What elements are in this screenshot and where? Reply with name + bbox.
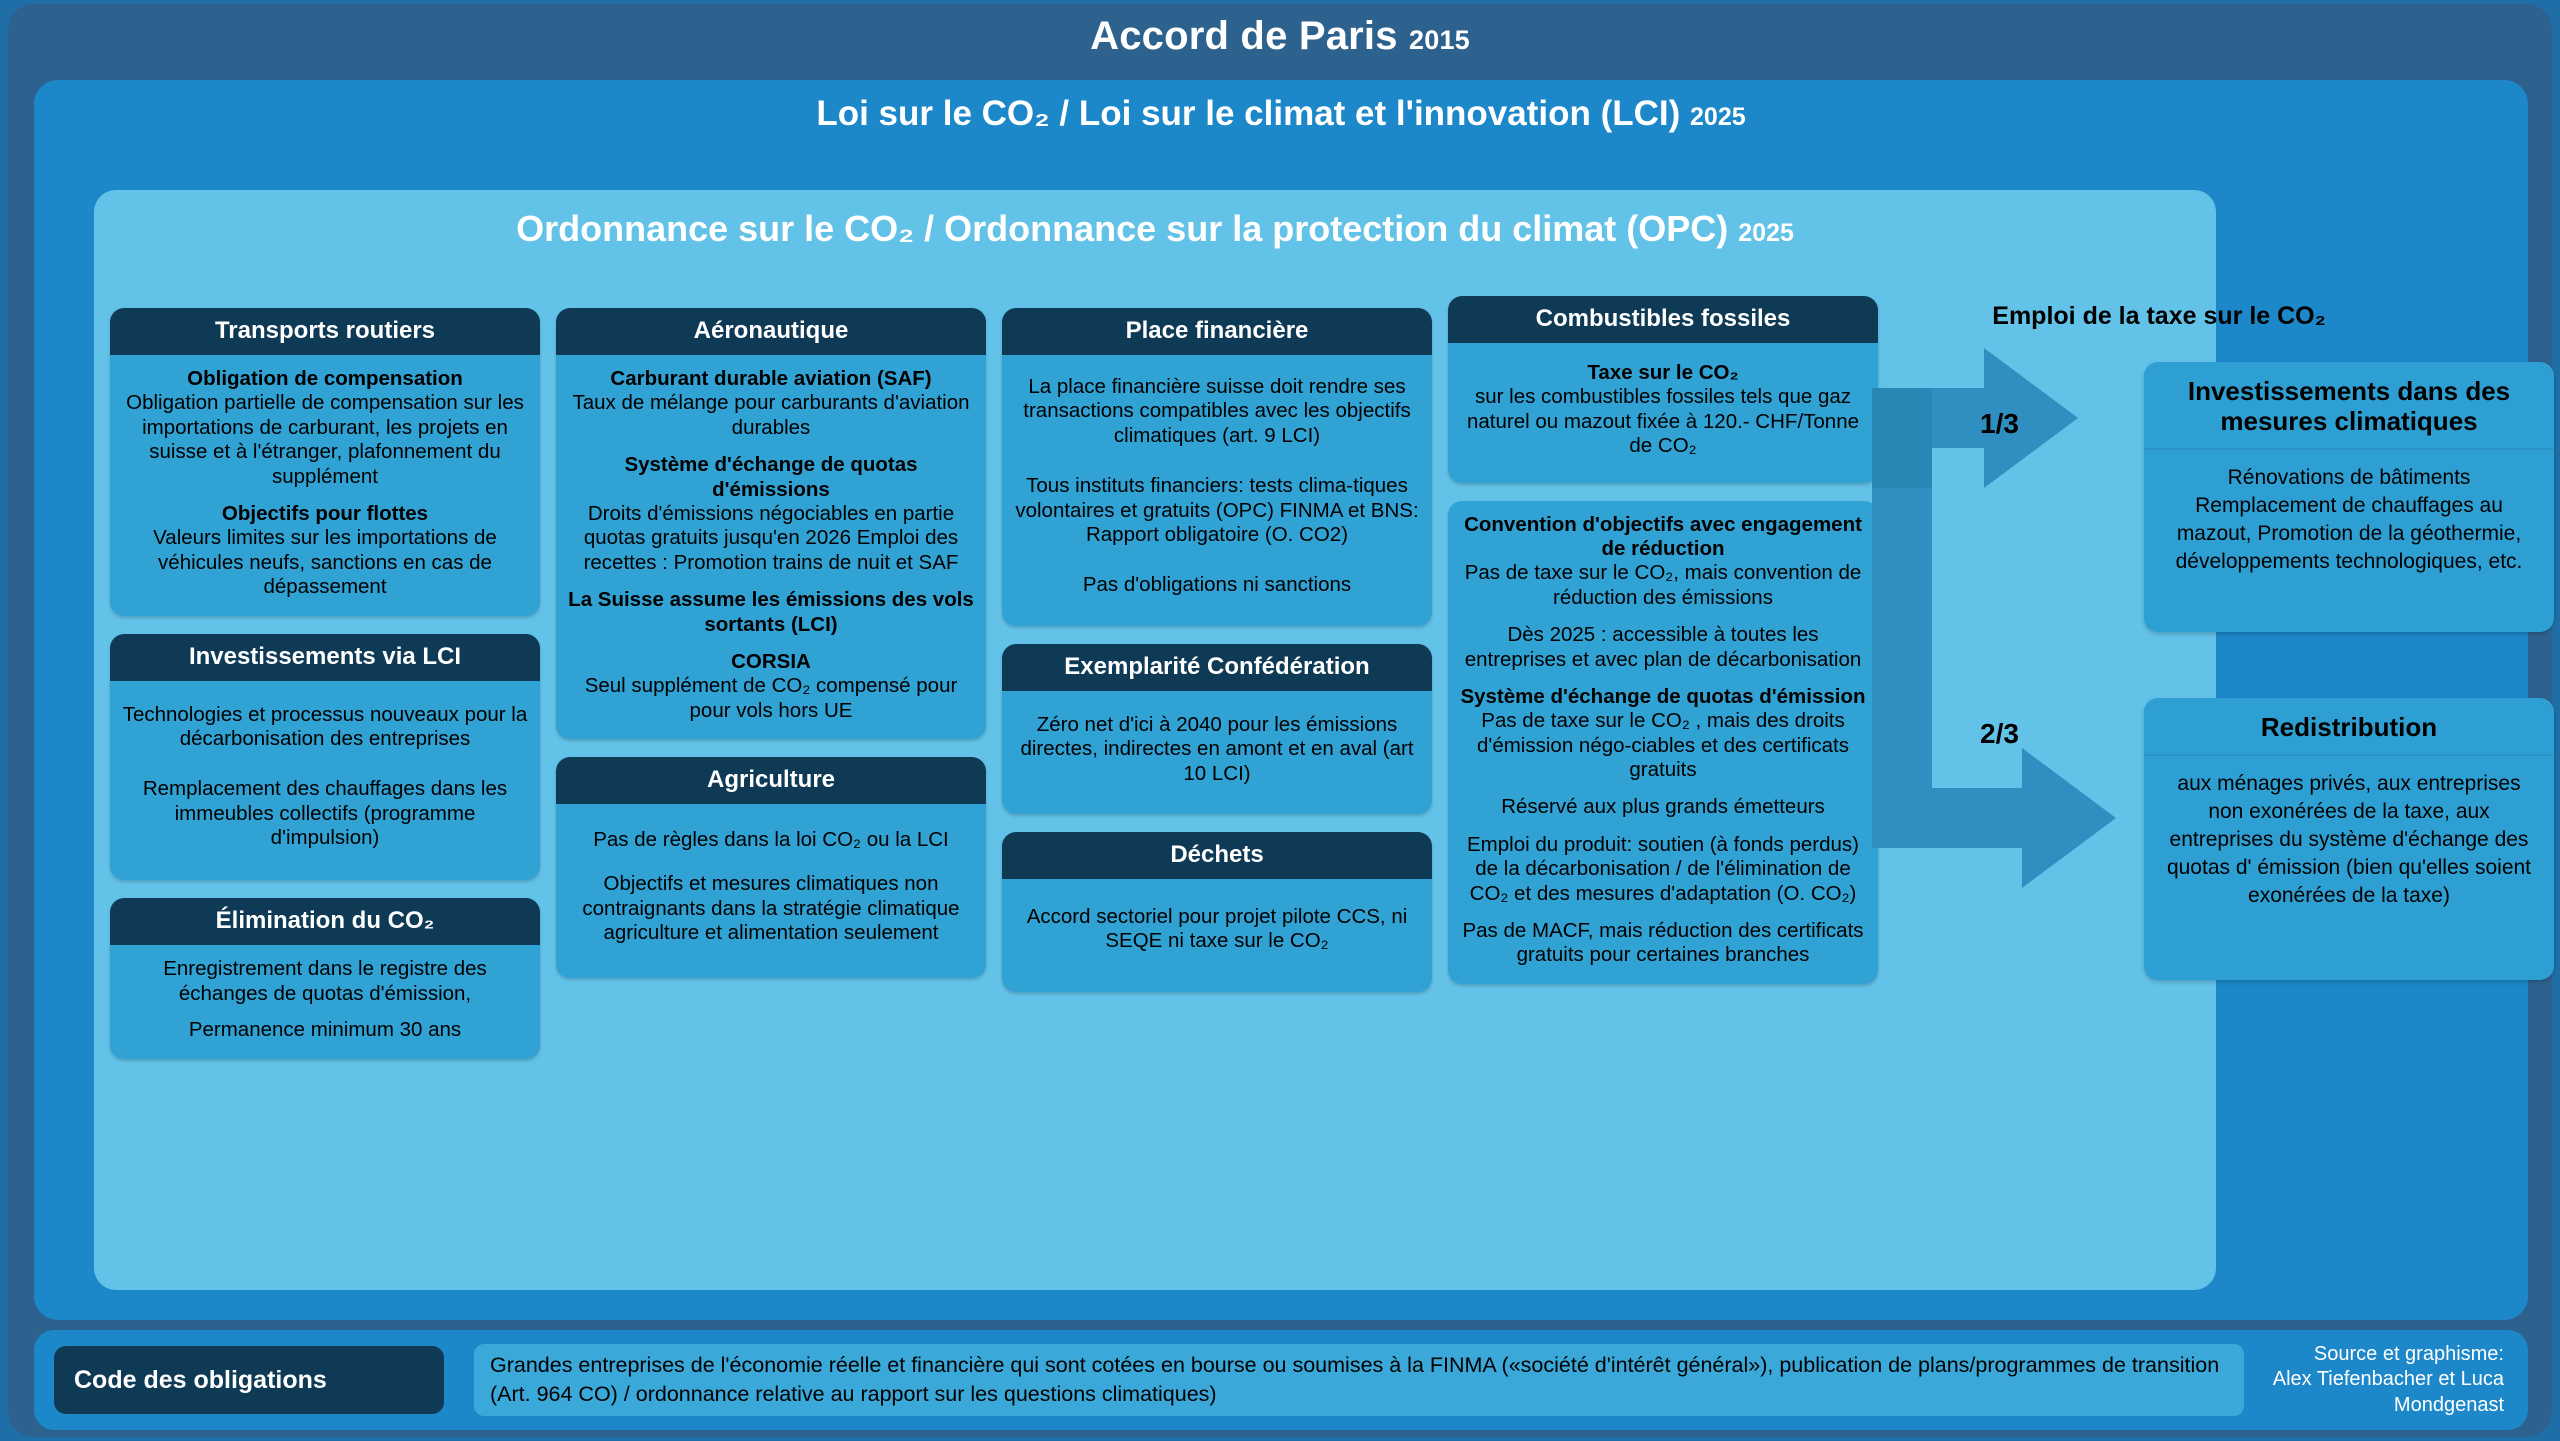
heading-objectifs-flottes: Objectifs pour flottes [222,502,428,525]
card-title-aeronautique: Aéronautique [556,308,986,355]
source-credit: Source et graphisme: Alex Tiefenbacher e… [2234,1342,2504,1418]
heading-taxe-co2: Taxe sur le CO₂ [1587,361,1738,384]
heading-saf: Carburant durable aviation (SAF) [610,367,931,390]
text-permanence-30ans: Permanence minimum 30 ans [120,1018,530,1042]
text-pas-de-macf: Pas de MACF, mais réduction des certific… [1458,919,1868,968]
emploi-taxe-title: Emploi de la taxe sur le CO₂ [1924,302,2394,331]
accord-de-paris-frame: Accord de Paris 2015 Loi sur le CO₂ / Lo… [8,4,2552,1437]
accord-de-paris-year: 2015 [1409,25,1470,55]
heading-seqe-combustibles: Système d'échange de quotas d'émission [1460,685,1865,708]
emploi-taxe-section: Emploi de la taxe sur le CO₂ 1/3 2/3 Inv… [1924,190,2554,1290]
source-label: Source et graphisme: [2234,1342,2504,1367]
card-title-combustibles-fossiles: Combustibles fossiles [1448,296,1878,343]
text-convention-objectifs: Pas de taxe sur le CO₂, mais convention … [1465,561,1862,608]
card-title-place-financiere: Place financière [1002,308,1432,355]
text-technologies-processus: Technologies et processus nouveaux pour … [120,703,530,752]
code-des-obligations-bar: Code des obligations Grandes entreprises… [34,1330,2528,1430]
heading-convention-objectifs: Convention d'objectifs avec engagement d… [1464,513,1862,560]
code-des-obligations-text: Grandes entreprises de l'économie réelle… [474,1344,2244,1416]
loi-co2-title: Loi sur le CO₂ / Loi sur le climat et l'… [34,94,2528,134]
column-combustibles-fossiles: Combustibles fossiles Taxe sur le CO₂ su… [1448,296,1878,1002]
loi-co2-year: 2025 [1690,103,1746,131]
text-investissements-mesures-climatiques: Rénovations de bâtiments Remplacement de… [2144,450,2554,594]
card-body-investissements-lci: Technologies et processus nouveaux pour … [110,681,540,881]
fraction-one-third: 1/3 [1980,408,2019,440]
card-dechets: Déchets Accord sectoriel pour projet pil… [1002,832,1432,992]
text-seqe-aviation: Droits d'émissions négociables en partie… [584,502,959,574]
text-obligation-compensation: Obligation partielle de compensation sur… [126,391,524,487]
accord-de-paris-label: Accord de Paris [1090,14,1398,58]
card-body-agriculture: Pas de règles dans la loi CO₂ ou la LCI … [556,804,986,978]
heading-suisse-vols-sortants: La Suisse assume les émissions des vols … [566,588,976,637]
title-investissements-mesures-climatiques: Investissements dans des mesures climati… [2144,362,2554,450]
text-pas-de-regles: Pas de règles dans la loi CO₂ ou la LCI [566,828,976,852]
text-redistribution: aux ménages privés, aux entreprises non … [2144,756,2554,928]
card-investissements-mesures-climatiques: Investissements dans des mesures climati… [2144,362,2554,632]
heading-obligation-compensation: Obligation de compensation [187,367,463,390]
text-objectifs-non-contraignants: Objectifs et mesures climatiques non con… [566,872,976,945]
card-title-investissements-lci: Investissements via LCI [110,634,540,681]
text-corsia: Seul supplément de CO₂ compensé pour pou… [585,674,958,721]
text-place-financiere-suisse: La place financière suisse doit rendre s… [1012,375,1422,448]
ordonnance-year: 2025 [1738,219,1794,247]
text-seqe-combustibles: Pas de taxe sur le CO₂ , mais des droits… [1477,709,1849,781]
card-body-aeronautique: Carburant durable aviation (SAF) Taux de… [556,355,986,739]
source-names: Alex Tiefenbacher et Luca Mondgenast [2234,1367,2504,1418]
card-body-place-financiere: La place financière suisse doit rendre s… [1002,355,1432,626]
fraction-two-thirds: 2/3 [1980,718,2019,750]
text-des-2025: Dès 2025 : accessible à toutes les entre… [1458,623,1868,672]
card-conventions-objectifs: Convention d'objectifs avec engagement d… [1448,501,1878,984]
column-place-financiere: Place financière La place financière sui… [1002,308,1432,1010]
ordonnance-title: Ordonnance sur le CO₂ / Ordonnance sur l… [94,208,2216,250]
card-title-transports-routiers: Transports routiers [110,308,540,355]
text-remplacement-chauffages: Remplacement des chauffages dans les imm… [120,777,530,850]
ordonnance-label: Ordonnance sur le CO₂ / Ordonnance sur l… [516,208,1728,249]
text-pas-obligations: Pas d'obligations ni sanctions [1012,573,1422,597]
code-des-obligations-badge: Code des obligations [54,1346,444,1414]
loi-co2-label: Loi sur le CO₂ / Loi sur le climat et l'… [816,94,1680,133]
card-elimination-co2: Élimination du CO₂ Enregistrement dans l… [110,898,540,1058]
card-redistribution: Redistribution aux ménages privés, aux e… [2144,698,2554,980]
heading-seqe-aviation: Système d'échange de quotas d'émissions [624,453,917,500]
accord-de-paris-title: Accord de Paris 2015 [8,14,2552,59]
text-enregistrement-registre: Enregistrement dans le registre des écha… [120,957,530,1006]
card-title-elimination-co2: Élimination du CO₂ [110,898,540,945]
card-exemplarite-confederation: Exemplarité Confédération Zéro net d'ici… [1002,644,1432,814]
card-investissements-lci: Investissements via LCI Technologies et … [110,634,540,881]
loi-co2-frame: Loi sur le CO₂ / Loi sur le climat et l'… [34,80,2528,1320]
card-transports-routiers: Transports routiers Obligation de compen… [110,308,540,616]
column-transports-routiers: Transports routiers Obligation de compen… [110,308,540,1077]
card-body-exemplarite-confederation: Zéro net d'ici à 2040 pour les émissions… [1002,691,1432,814]
title-redistribution: Redistribution [2144,698,2554,756]
text-accord-sectoriel-ccs: Accord sectoriel pour projet pilote CCS,… [1012,905,1422,954]
card-title-dechets: Déchets [1002,832,1432,879]
card-body-dechets: Accord sectoriel pour projet pilote CCS,… [1002,879,1432,992]
text-reserve-grands-emetteurs: Réservé aux plus grands émetteurs [1458,795,1868,819]
card-body-taxe-co2: Taxe sur le CO₂ sur les combustibles fos… [1448,343,1878,483]
card-agriculture: Agriculture Pas de règles dans la loi CO… [556,757,986,978]
card-body-transports-routiers: Obligation de compensation Obligation pa… [110,355,540,616]
text-emploi-du-produit: Emploi du produit: soutien (à fonds perd… [1458,833,1868,906]
text-saf: Taux de mélange pour carburants d'aviati… [572,391,969,438]
card-body-conventions-objectifs: Convention d'objectifs avec engagement d… [1448,501,1878,984]
card-body-elimination-co2: Enregistrement dans le registre des écha… [110,945,540,1058]
column-aeronautique: Aéronautique Carburant durable aviation … [556,308,986,996]
card-title-agriculture: Agriculture [556,757,986,804]
card-combustibles-fossiles: Combustibles fossiles Taxe sur le CO₂ su… [1448,296,1878,483]
card-place-financiere: Place financière La place financière sui… [1002,308,1432,626]
text-zero-net-2040: Zéro net d'ici à 2040 pour les émissions… [1012,713,1422,786]
text-instituts-financiers: Tous instituts financiers: tests clima-t… [1012,474,1422,547]
card-title-exemplarite-confederation: Exemplarité Confédération [1002,644,1432,691]
heading-corsia: CORSIA [731,650,811,673]
text-objectifs-flottes: Valeurs limites sur les importations de … [153,526,497,598]
text-taxe-co2: sur les combustibles fossiles tels que g… [1467,385,1859,457]
card-aeronautique: Aéronautique Carburant durable aviation … [556,308,986,739]
